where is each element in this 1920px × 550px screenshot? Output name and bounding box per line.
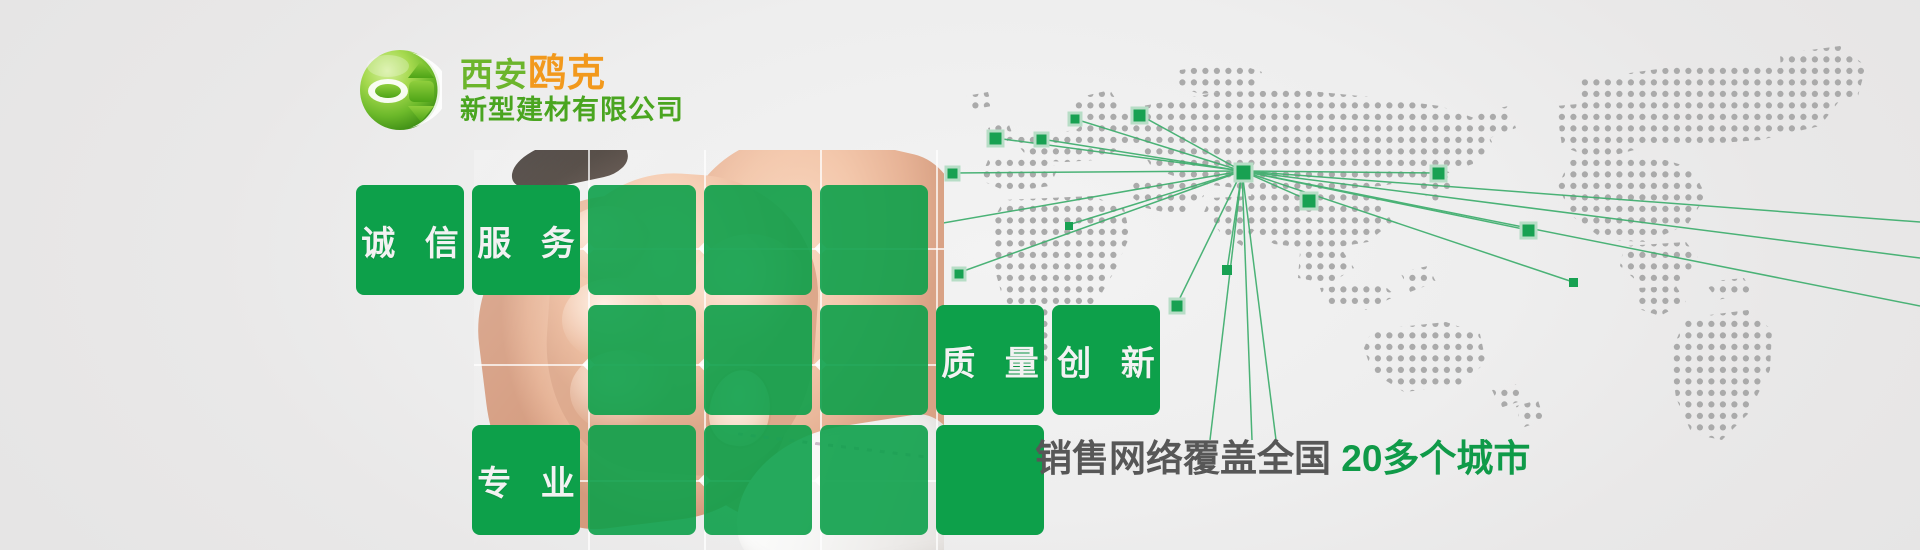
tile-quality[interactable]: 质 量 (936, 305, 1044, 415)
tile-blank[interactable] (820, 305, 928, 415)
caption-highlight: 20多个城市 (1331, 438, 1530, 479)
tile-blank[interactable] (588, 185, 696, 295)
tile-innovation[interactable]: 创 新 (1052, 305, 1160, 415)
tile-label: 服 务 (467, 216, 584, 265)
tile-blank[interactable] (936, 425, 1044, 535)
tile-blank[interactable] (588, 305, 696, 415)
company-logo[interactable]: 西安鸥克 新型建材有限公司 (358, 48, 684, 132)
tile-professional[interactable]: 专 业 (472, 425, 580, 535)
tile-blank[interactable] (704, 185, 812, 295)
logo-subtitle: 新型建材有限公司 (460, 96, 684, 126)
caption-lead: 销售网络覆盖全国 (1035, 438, 1331, 479)
tile-label: 诚 信 (351, 216, 468, 265)
logo-wordmark: 西安鸥克 新型建材有限公司 (460, 54, 684, 126)
tile-label: 专 业 (467, 456, 584, 505)
tile-integrity[interactable]: 诚 信 (356, 185, 464, 295)
hero-banner: 诚 信 服 务 质 量 创 新 专 业 (0, 0, 1920, 550)
tile-label: 质 量 (931, 336, 1048, 385)
tile-blank[interactable] (820, 185, 928, 295)
tile-service[interactable]: 服 务 (472, 185, 580, 295)
logo-city: 西安 (460, 56, 528, 93)
tile-blank[interactable] (704, 305, 812, 415)
sales-network-caption: 销售网络覆盖全国 20多个城市 (1035, 440, 1530, 477)
logo-title-line: 西安鸥克 (460, 54, 684, 94)
tile-blank[interactable] (704, 425, 812, 535)
tile-label: 创 新 (1047, 336, 1164, 385)
green-globe-emblem-icon (358, 48, 442, 132)
tile-blank[interactable] (588, 425, 696, 535)
logo-brand: 鸥克 (528, 53, 606, 95)
tile-blank[interactable] (820, 425, 928, 535)
